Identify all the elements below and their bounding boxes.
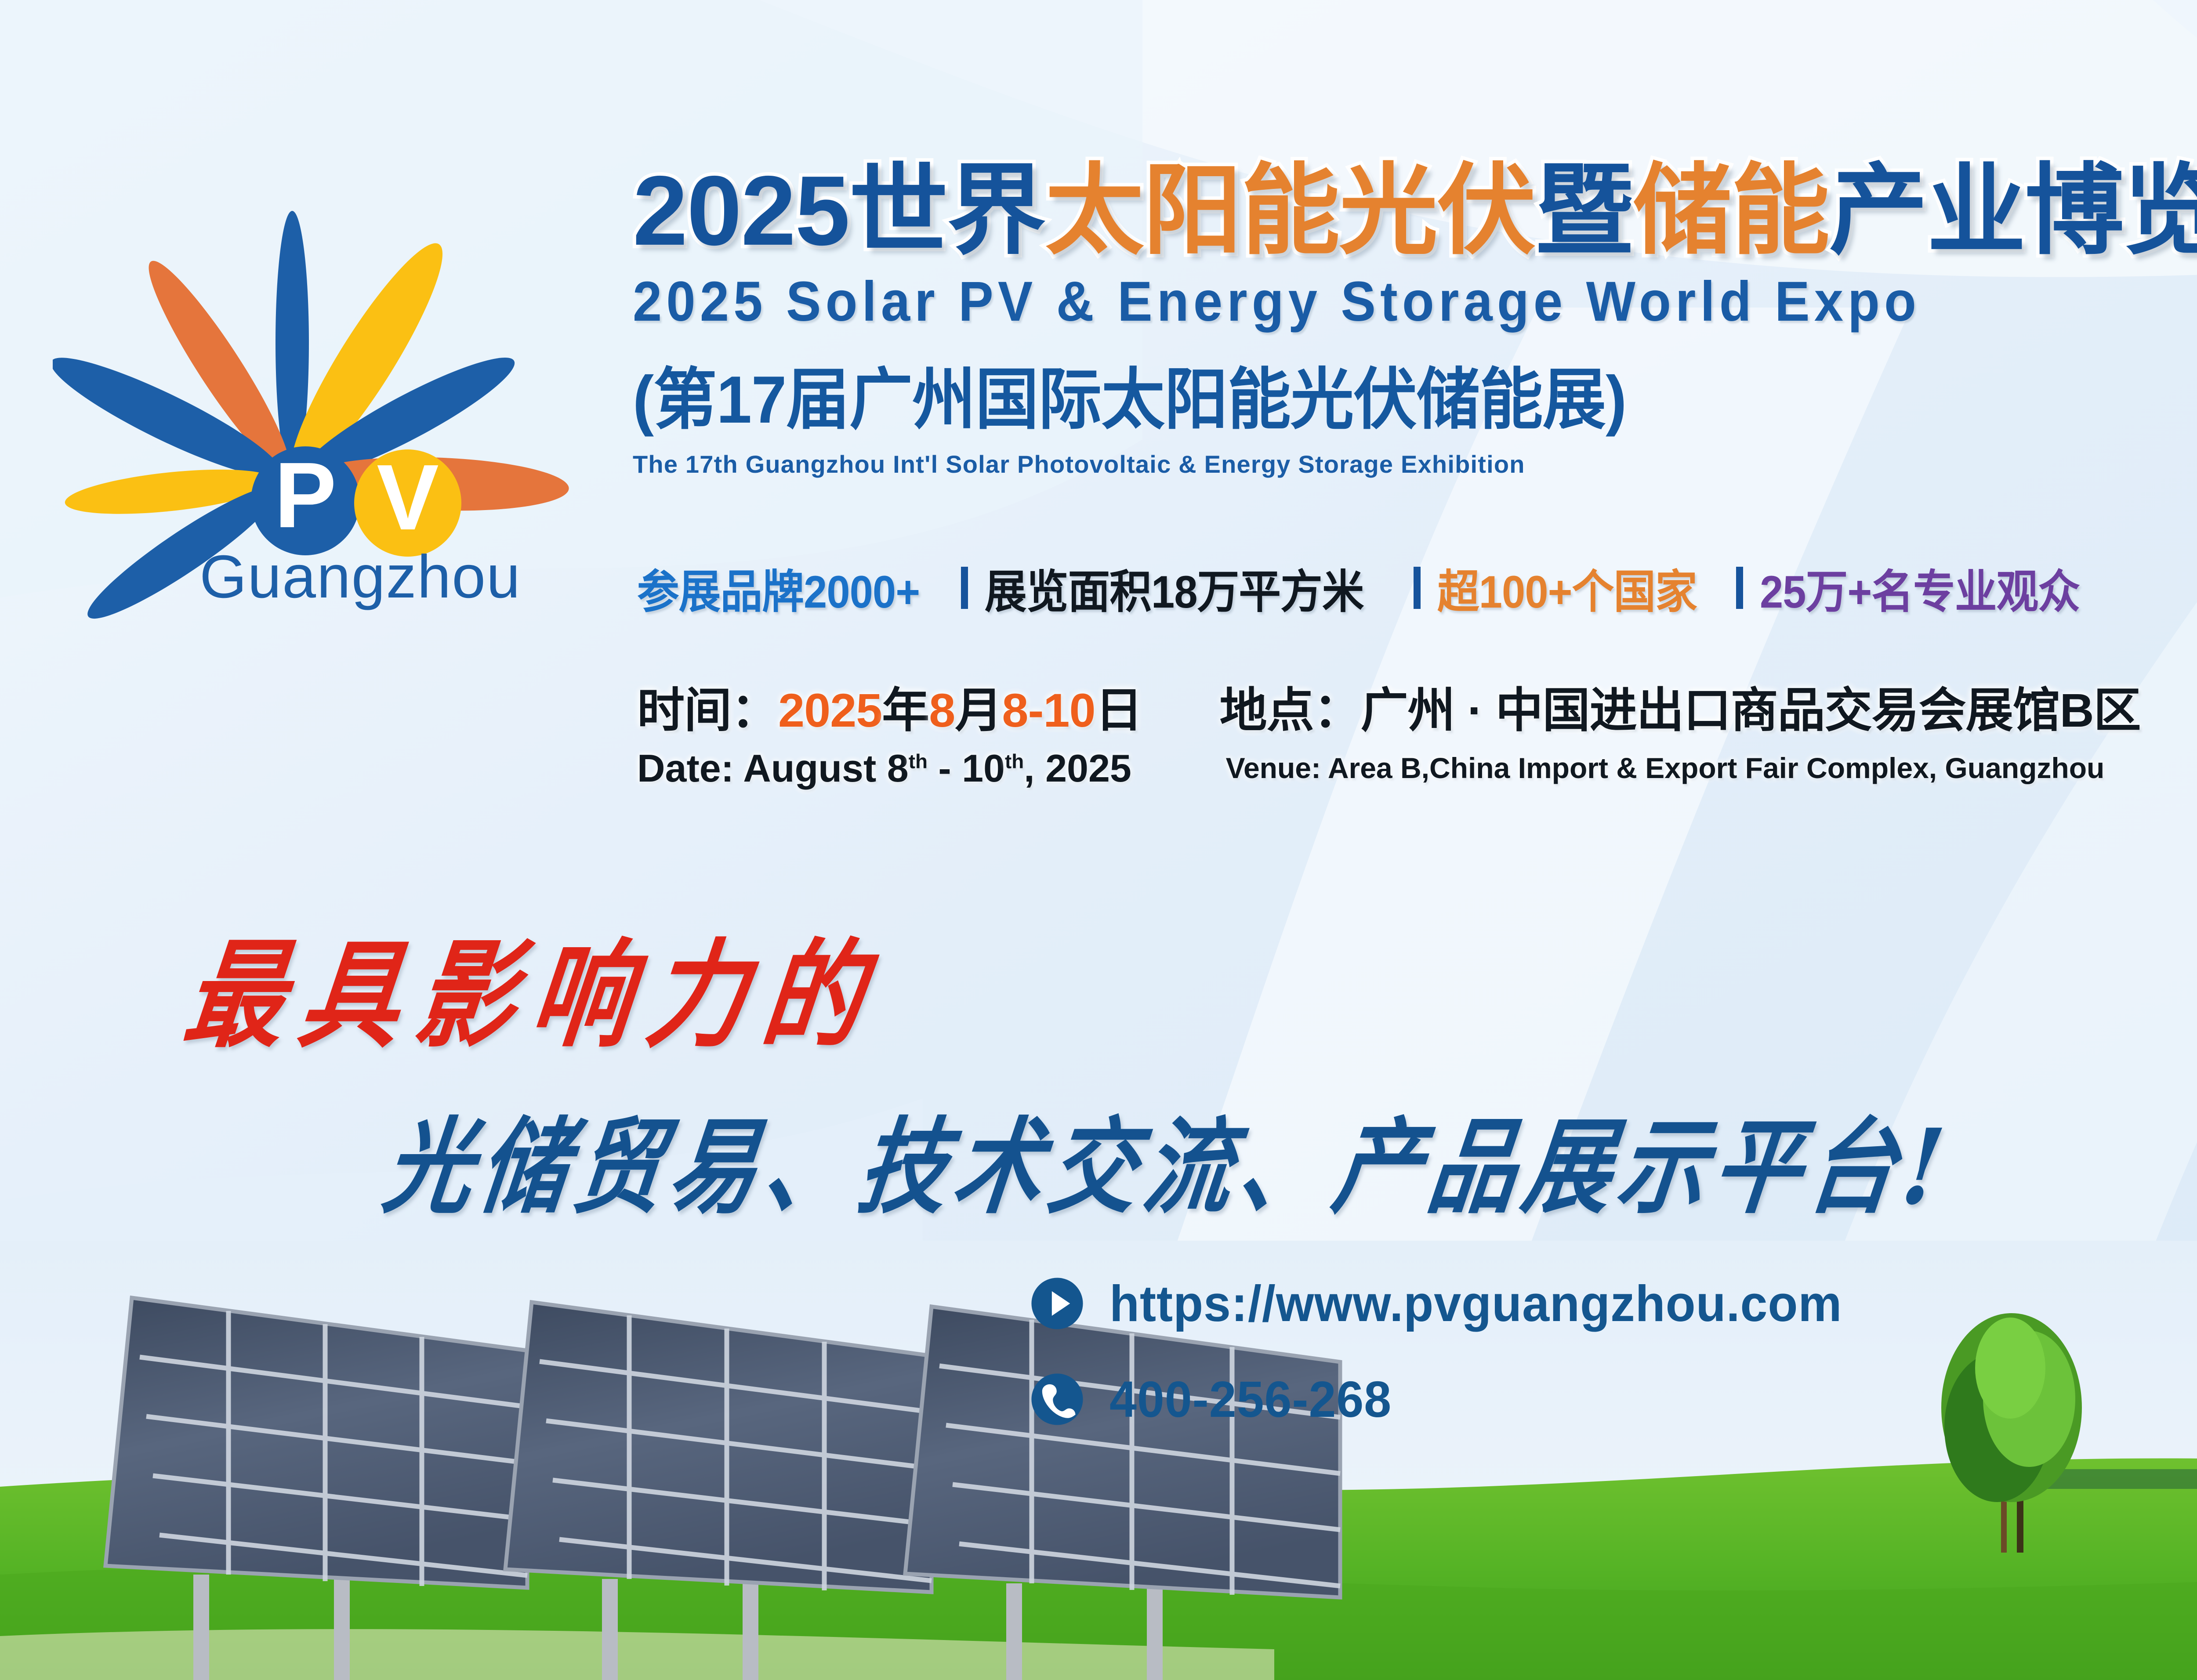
date-chinese: 时间：2025年8月8-10日 <box>637 672 1142 741</box>
stat-item-visitors: 25万+名专业观众 <box>1760 554 2080 621</box>
stat-item-countries: 超100+个国家 <box>1437 554 1697 621</box>
date-day-unit: 日 <box>1095 684 1142 737</box>
title-part-0: 2025世界 <box>633 155 1045 266</box>
stat-item-brands: 参展品牌2000+ <box>637 554 920 621</box>
date-year-unit: 年 <box>882 684 929 737</box>
phone-text[interactable]: 400-256-268 <box>1109 1370 1392 1429</box>
venue-chinese: 地点：广州 · 中国进出口商品交易会展馆B区 <box>1220 672 2141 741</box>
date-label-cn: 时间： <box>637 684 778 737</box>
contact-block: https://www.pvguangzhou.com 400-256-268 <box>1030 1274 1873 1429</box>
logo-p-letter: P <box>274 443 336 547</box>
website-text[interactable]: https://www.pvguangzhou.com <box>1109 1274 1842 1333</box>
stat-divider <box>961 567 968 609</box>
pv-guangzhou-logo: P V Guangzhou <box>53 176 606 624</box>
stat-divider <box>1414 567 1421 609</box>
date-day-end-sup: th <box>1005 750 1024 773</box>
logo-city-label: Guangzhou <box>199 543 521 611</box>
date-day-end: 10 <box>962 746 1005 790</box>
slogan-line-1: 最具影响力的 <box>177 901 891 1070</box>
date-column: 时间：2025年8月8-10日 Date: August 8th - 10th,… <box>637 672 1142 791</box>
title-english: 2025 Solar PV & Energy Storage World Exp… <box>633 269 2197 334</box>
website-row[interactable]: https://www.pvguangzhou.com <box>1030 1274 1873 1333</box>
title-part-4: 产业博览会 <box>1829 155 2197 266</box>
date-label-en: Date: August <box>637 746 876 790</box>
date-year-en: , 2025 <box>1024 746 1131 790</box>
venue-english: Venue: Area B,China Import & Export Fair… <box>1226 751 2141 785</box>
date-english: Date: August 8th - 10th, 2025 <box>637 746 1142 791</box>
date-month-unit: 月 <box>955 684 1002 737</box>
stat-divider <box>1736 567 1743 609</box>
venue-value-cn: 广州 · 中国进出口商品交易会展馆B区 <box>1361 684 2141 737</box>
phone-circle-icon <box>1030 1372 1084 1426</box>
venue-label-cn: 地点： <box>1220 684 1361 737</box>
stat-item-area: 展览面积18万平方米 <box>985 554 1364 621</box>
date-venue-block: 时间：2025年8月8-10日 Date: August 8th - 10th,… <box>637 672 2141 791</box>
title-part-3: 储能 <box>1633 155 1829 266</box>
page-title: 2025世界太阳能光伏暨储能产业博览会 <box>633 158 2197 263</box>
slogan-line-2: 光储贸易、技术交流、产品展示平台! <box>377 1083 1960 1233</box>
date-days: 8-10 <box>1002 684 1095 737</box>
phone-row[interactable]: 400-256-268 <box>1030 1370 1873 1429</box>
title-part-1: 太阳能光伏 <box>1045 155 1535 266</box>
play-circle-icon <box>1030 1277 1084 1330</box>
date-month: 8 <box>929 684 955 737</box>
date-day-start: 8 <box>887 746 909 790</box>
date-day-start-sup: th <box>909 750 928 773</box>
header-block: 2025世界太阳能光伏暨储能产业博览会 2025 Solar PV & Ener… <box>633 158 2197 478</box>
stats-row: 参展品牌2000+ 展览面积18万平方米 超100+个国家 25万+名专业观众 <box>637 554 2107 621</box>
date-year: 2025 <box>778 684 882 737</box>
logo-sunburst-icon: P V Guangzhou <box>53 176 606 624</box>
date-dash: - <box>928 746 962 790</box>
title-part-2: 暨 <box>1535 155 1633 266</box>
subtitle-english: The 17th Guangzhou Int'l Solar Photovolt… <box>633 450 2197 478</box>
logo-v-letter: V <box>377 445 439 549</box>
subtitle-chinese: (第17届广州国际太阳能光伏储能展) <box>633 345 2197 442</box>
venue-column: 地点：广州 · 中国进出口商品交易会展馆B区 Venue: Area B,Chi… <box>1220 672 2141 785</box>
